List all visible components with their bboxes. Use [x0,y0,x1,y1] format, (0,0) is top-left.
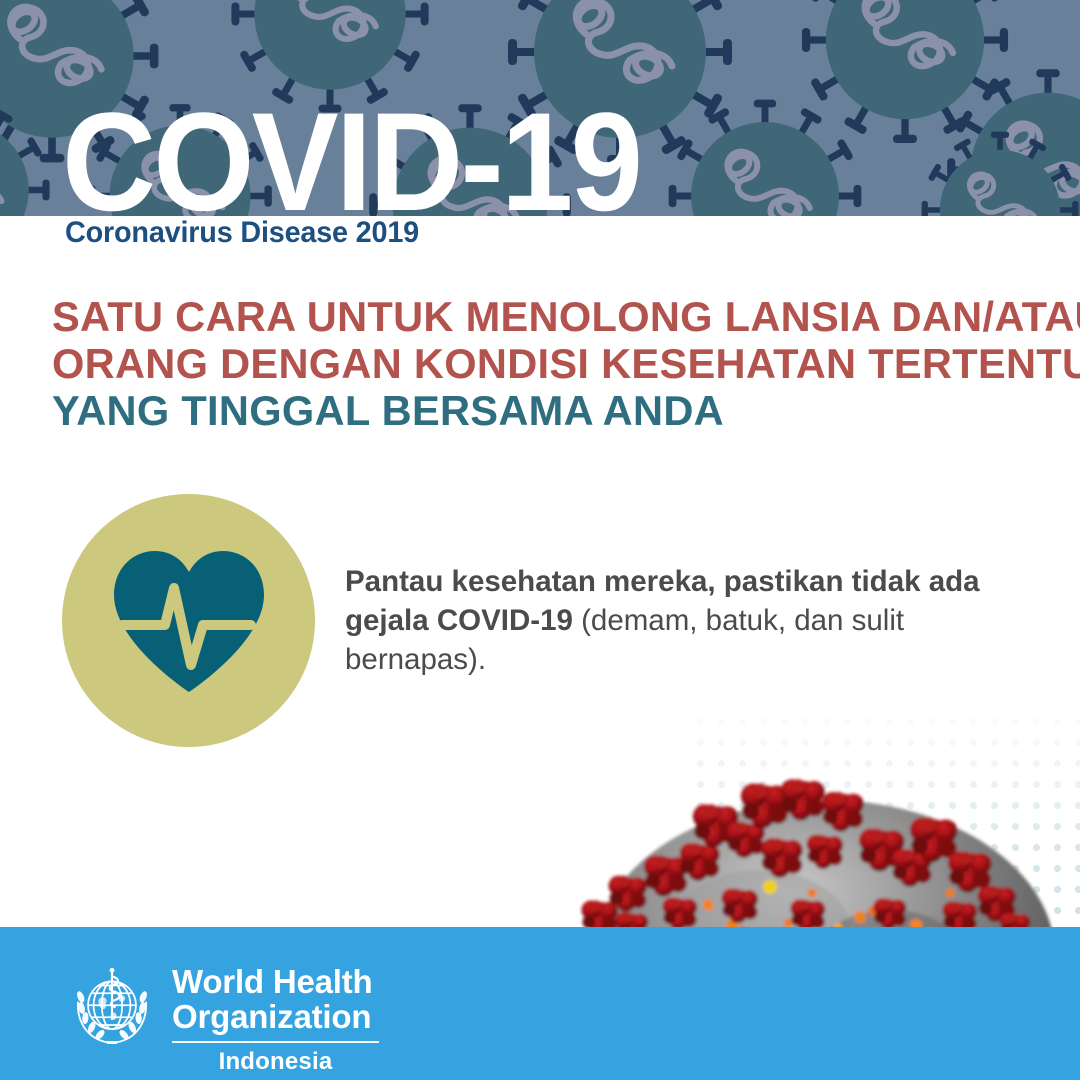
covid19-wordmark: COVID-19 [62,92,640,216]
headline-line-1: SATU CARA UNTUK MENOLONG LANSIA DAN/ATAU [52,293,1022,340]
advice-icon-circle [62,494,315,747]
advice-text: Pantau kesehatan mereka, pastikan tidak … [345,562,1025,679]
headline: SATU CARA UNTUK MENOLONG LANSIA DAN/ATAU… [52,293,1032,434]
covid19-public-health-poster: COVID-19 Coronavirus Disease 2019 SATU C… [0,0,1080,1080]
who-name-line-1: World Health [172,964,379,999]
virus-particle-illustration [560,765,1080,930]
who-divider [172,1041,379,1043]
who-emblem-icon [66,962,158,1054]
covid19-subtitle: Coronavirus Disease 2019 [65,216,419,250]
headline-line-2: ORANG DENGAN KONDISI KESEHATAN TERTENTU [52,340,1022,387]
who-wordmark: World Health Organization Indonesia [172,962,379,1076]
who-logo: World Health Organization Indonesia [66,962,379,1076]
sars-cov-2-particle-photo [560,765,1080,930]
heartbeat-icon [108,546,270,696]
who-country-label: Indonesia [172,1048,379,1076]
header-banner: COVID-19 [0,0,1080,216]
headline-line-3: YANG TINGGAL BERSAMA ANDA [52,387,1022,434]
who-name-line-2: Organization [172,999,379,1034]
